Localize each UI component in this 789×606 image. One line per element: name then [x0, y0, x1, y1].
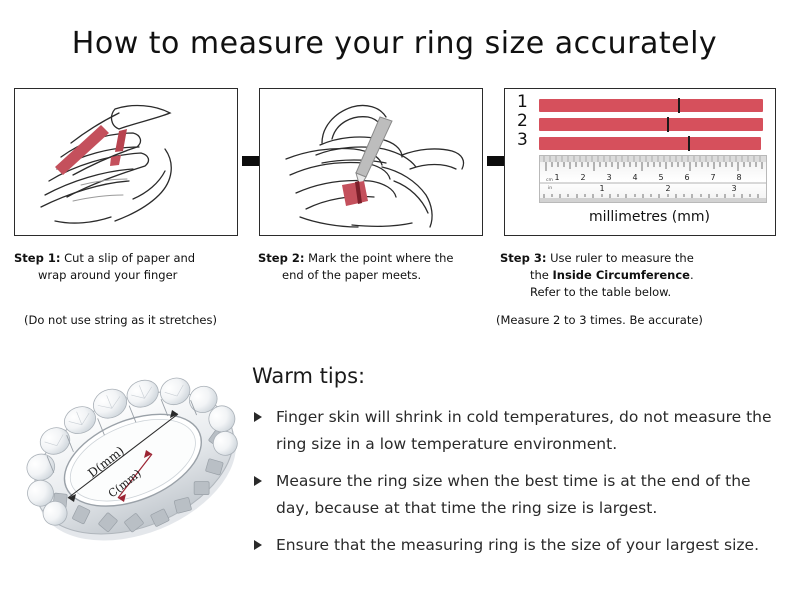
step-3-illustration-panel: 1 2 3	[504, 88, 776, 236]
step-3-label: Step 3:	[500, 251, 546, 265]
step-1-note: (Do not use string as it stretches)	[24, 313, 217, 327]
warm-tip-text-2: Measure the ring size when the best time…	[276, 472, 751, 517]
paper-strip-wrapped-icon	[342, 181, 368, 206]
strip-mark-1	[678, 98, 680, 113]
paper-strip-loose-icon	[55, 125, 109, 175]
strip-bar-3	[539, 137, 761, 150]
step-1-text-line1: Cut a slip of paper and	[64, 251, 195, 265]
hand-with-paper-strip-icon	[15, 89, 237, 235]
step-2-text-line1: Mark the point where the	[308, 251, 453, 265]
warm-tip-text-1: Finger skin will shrink in cold temperat…	[276, 408, 772, 453]
svg-text:2: 2	[665, 184, 670, 193]
svg-text:3: 3	[606, 173, 611, 182]
svg-text:8: 8	[736, 173, 741, 182]
paper-strip-row-1: 1	[517, 99, 765, 113]
strip-number-2: 2	[517, 113, 533, 130]
strip-mark-2	[667, 117, 669, 132]
step-2-text-line2: end of the paper meets.	[258, 267, 494, 284]
step-1-illustration-panel	[14, 88, 238, 236]
svg-text:1: 1	[599, 184, 604, 193]
step-1-text-line2: wrap around your finger	[14, 267, 250, 284]
step-3-text-line1: Use ruler to measure the	[550, 251, 694, 265]
warm-tips-section: Warm tips: Finger skin will shrink in co…	[252, 364, 774, 569]
strip-bar-1	[539, 99, 763, 112]
strip-number-3: 3	[517, 132, 533, 149]
paper-strip-row-3: 3	[517, 137, 765, 151]
warm-tip-item-3: Ensure that the measuring ring is the si…	[252, 532, 774, 559]
strip-number-1: 1	[517, 94, 533, 111]
ring-illustration: D(mm) C(mm)	[18, 352, 250, 574]
strip-mark-3	[688, 136, 690, 151]
warm-tip-text-3: Ensure that the measuring ring is the si…	[276, 536, 759, 554]
step-3-text-inside-circumference: Inside Circumference	[553, 268, 690, 282]
step-2-caption: Step 2: Mark the point where the end of …	[258, 250, 494, 284]
strip-bar-2	[539, 118, 763, 131]
svg-text:3: 3	[731, 184, 736, 193]
step-3-text-line2-suffix: .	[690, 268, 694, 282]
warm-tip-item-1: Finger skin will shrink in cold temperat…	[252, 404, 774, 458]
warm-tips-heading: Warm tips:	[252, 364, 774, 388]
step-2-illustration-panel	[259, 88, 483, 236]
warm-tip-item-2: Measure the ring size when the best time…	[252, 468, 774, 522]
svg-text:2: 2	[580, 173, 585, 182]
steps-row: 1 2 3	[14, 88, 776, 238]
paper-strip-row-2: 2	[517, 118, 765, 132]
svg-text:5: 5	[658, 173, 663, 182]
step-1-caption: Step 1: Cut a slip of paper and wrap aro…	[14, 250, 250, 284]
triangle-bullet-icon	[254, 540, 262, 550]
step-3-caption: Step 3: Use ruler to measure the the Ins…	[500, 250, 780, 301]
step-2-label: Step 2:	[258, 251, 304, 265]
svg-text:6: 6	[684, 173, 689, 182]
step-3-text-line3: Refer to the table below.	[500, 284, 780, 301]
svg-text:in: in	[548, 185, 552, 191]
svg-text:4: 4	[632, 173, 637, 182]
ruler-caption: millimetres (mm)	[589, 209, 710, 225]
triangle-bullet-icon	[254, 412, 262, 422]
ruler-icon: 1 2 3 4 5 6 7 8 cm 1 2 3 in	[539, 155, 767, 203]
hand-with-pen-marking-icon	[260, 89, 482, 235]
triangle-bullet-icon	[254, 476, 262, 486]
step-3-text-line2-prefix: the	[530, 268, 553, 282]
svg-text:7: 7	[710, 173, 715, 182]
page-title: How to measure your ring size accurately	[0, 26, 789, 61]
step-1-label: Step 1:	[14, 251, 60, 265]
pen-icon	[356, 117, 392, 190]
step-3-note: (Measure 2 to 3 times. Be accurate)	[496, 313, 703, 327]
svg-text:cm: cm	[546, 178, 553, 183]
svg-text:1: 1	[554, 173, 559, 182]
